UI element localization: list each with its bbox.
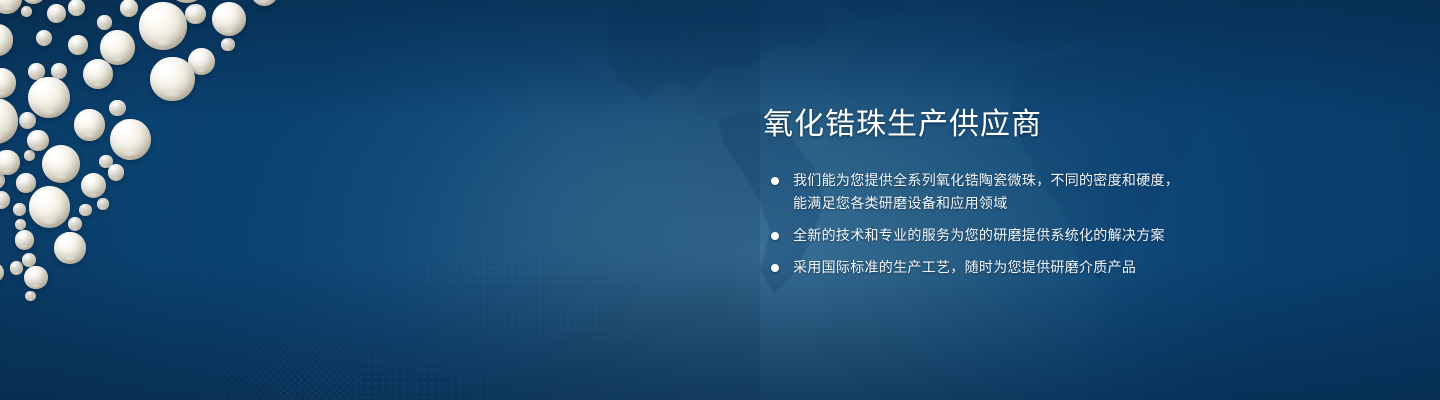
zirconia-bead — [15, 219, 26, 230]
bullet-line: 能满足您各类研磨设备和应用领域 — [793, 192, 1233, 215]
zirconia-bead — [68, 0, 85, 16]
zirconia-bead — [97, 198, 108, 209]
banner-content: 氧化锆珠生产供应商 我们能为您提供全系列氧化锆陶瓷微珠，不同的密度和硬度，能满足… — [763, 105, 1233, 279]
zirconia-bead — [212, 2, 246, 36]
banner-bullet-list: 我们能为您提供全系列氧化锆陶瓷微珠，不同的密度和硬度，能满足您各类研磨设备和应用… — [763, 169, 1233, 279]
bullet-line: 采用国际标准的生产工艺，随时为您提供研磨介质产品 — [793, 256, 1233, 279]
zirconia-bead — [79, 204, 92, 217]
zirconia-bead — [221, 38, 235, 52]
zirconia-bead — [29, 186, 70, 227]
zirconia-bead — [27, 130, 49, 152]
zirconia-bead — [16, 173, 36, 193]
zirconia-bead — [15, 230, 34, 249]
zirconia-bead — [47, 4, 66, 23]
zirconia-bead — [21, 6, 32, 17]
zirconia-bead — [109, 100, 126, 117]
zirconia-bead — [74, 109, 106, 141]
bullet-dot-icon — [771, 232, 779, 240]
zirconia-bead — [10, 261, 24, 275]
zirconia-bead — [97, 15, 111, 29]
zirconia-bead — [100, 30, 135, 65]
zirconia-bead — [0, 150, 20, 175]
zirconia-bead — [54, 232, 86, 264]
zirconia-bead — [150, 57, 195, 102]
bullet-item: 全新的技术和专业的服务为您的研磨提供系统化的解决方案 — [763, 224, 1233, 247]
zirconia-bead — [13, 203, 26, 216]
bullet-item: 我们能为您提供全系列氧化锆陶瓷微珠，不同的密度和硬度，能满足您各类研磨设备和应用… — [763, 169, 1233, 215]
zirconia-bead — [68, 35, 88, 55]
bullet-line: 我们能为您提供全系列氧化锆陶瓷微珠，不同的密度和硬度， — [793, 169, 1233, 192]
zirconia-bead — [110, 119, 151, 160]
hero-banner: 氧化锆珠生产供应商 我们能为您提供全系列氧化锆陶瓷微珠，不同的密度和硬度，能满足… — [0, 0, 1440, 400]
bullet-line: 全新的技术和专业的服务为您的研磨提供系统化的解决方案 — [793, 224, 1233, 247]
zirconia-bead — [28, 77, 69, 118]
bullet-item: 采用国际标准的生产工艺，随时为您提供研磨介质产品 — [763, 256, 1233, 279]
zirconia-bead — [24, 266, 48, 290]
banner-headline: 氧化锆珠生产供应商 — [763, 105, 1233, 145]
bullet-dot-icon — [771, 177, 779, 185]
zirconia-bead — [42, 145, 80, 183]
bullet-dot-icon — [771, 264, 779, 272]
zirconia-bead — [139, 2, 187, 50]
zirconia-bead — [51, 63, 67, 79]
zirconia-bead — [120, 0, 138, 17]
zirconia-bead — [24, 150, 35, 161]
